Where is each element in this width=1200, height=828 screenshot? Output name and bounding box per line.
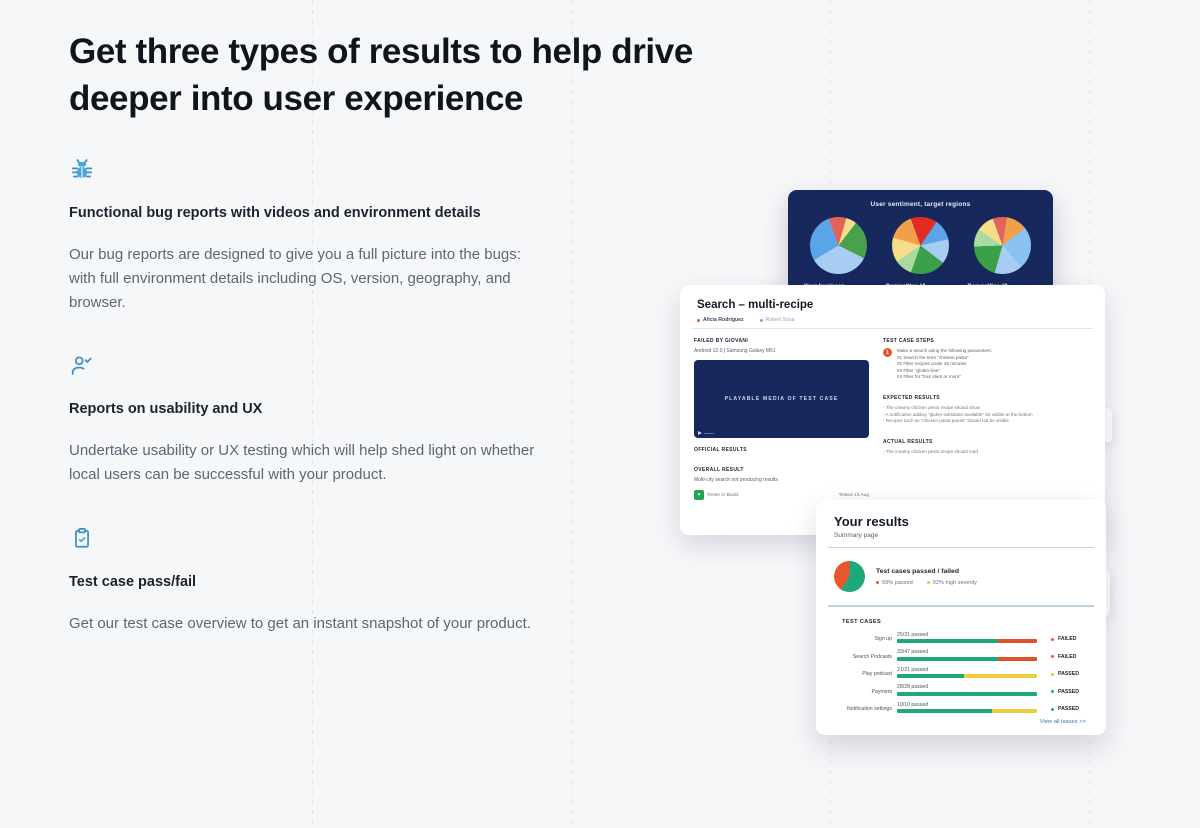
feature-title: Functional bug reports with videos and e… bbox=[69, 205, 729, 221]
media-placeholder-label: PLAYABLE MEDIA OF TEST CASE bbox=[725, 396, 839, 402]
your-results-card: Your results Summary page Test cases pas… bbox=[816, 500, 1106, 735]
progress-pass-segment bbox=[897, 639, 998, 643]
overall-result-heading: OVERALL RESULT bbox=[694, 467, 869, 473]
bug-icon bbox=[69, 157, 95, 183]
status-dot-icon bbox=[1051, 673, 1054, 676]
table-row[interactable]: Search Podcasts 33/47 passed FAILED bbox=[830, 649, 1092, 661]
summary-legend: 59% passed 92% high severity bbox=[876, 580, 977, 586]
legend-item-severity: 92% high severity bbox=[927, 580, 977, 586]
test-case-name: Play podcast bbox=[830, 671, 897, 678]
steps-heading: TEST CASE STEPS bbox=[883, 338, 1083, 344]
tab-label: Alicia Rodriguez bbox=[703, 317, 744, 323]
step-line: Make a search using the following parame… bbox=[897, 348, 992, 355]
progress-bar bbox=[897, 657, 1037, 661]
flag-icon: ✦ bbox=[694, 490, 704, 500]
progress-rest-segment bbox=[998, 639, 1037, 643]
play-controls[interactable] bbox=[698, 431, 714, 435]
summary-heading: Test cases passed / failed bbox=[876, 568, 977, 575]
media-player[interactable]: PLAYABLE MEDIA OF TEST CASE bbox=[694, 360, 869, 438]
step-line: #4 Filter for "four stars or more" bbox=[897, 374, 992, 381]
feature-body: Our bug reports are designed to give you… bbox=[69, 243, 549, 315]
status-dot-icon bbox=[1051, 690, 1054, 693]
divider bbox=[828, 605, 1094, 606]
divider bbox=[828, 547, 1094, 548]
official-results-heading: OFFICIAL RESULTS bbox=[694, 447, 869, 453]
status-dot-icon bbox=[1051, 708, 1054, 711]
test-case-caption: 28/28 passed bbox=[897, 684, 1037, 690]
results-subtitle: Summary page bbox=[834, 532, 1106, 539]
legend-bullet-icon bbox=[876, 581, 879, 584]
tested-date: Tested 13 Aug bbox=[839, 493, 869, 498]
progress-pass-segment bbox=[897, 692, 1037, 696]
status-label: PASSED bbox=[1058, 671, 1079, 677]
tab-tester-alicia[interactable]: Alicia Rodriguez bbox=[697, 317, 744, 323]
step-line: #3 Filter "gluten-free" bbox=[897, 368, 992, 375]
play-icon[interactable] bbox=[698, 431, 702, 435]
legend-label: 59% passed bbox=[882, 580, 913, 586]
table-row[interactable]: Notification settings 10/10 passed PASSE… bbox=[830, 702, 1092, 714]
failed-by-heading: FAILED BY GIOVANI bbox=[694, 338, 869, 344]
test-cases-list: Sign up 25/31 passed FAILED Search Podca… bbox=[816, 632, 1106, 714]
tab-label: Robert Sosa bbox=[766, 317, 795, 323]
test-case-caption: 10/10 passed bbox=[897, 702, 1037, 708]
test-case-title: Search – multi-recipe bbox=[697, 299, 1105, 311]
test-case-caption: 21/21 passed bbox=[897, 667, 1037, 673]
step-lines: Make a search using the following parame… bbox=[897, 348, 992, 381]
test-cases-heading: TEST CASES bbox=[842, 619, 1106, 625]
table-row[interactable]: Play podcast 21/21 passed PASSED bbox=[830, 667, 1092, 679]
feature-bug-reports: Functional bug reports with videos and e… bbox=[69, 157, 729, 315]
expected-line: - The creamy chicken pesto recipe should… bbox=[883, 405, 1083, 412]
pie-chart-your-business bbox=[810, 217, 867, 274]
pass-fail-donut-chart bbox=[834, 561, 865, 592]
progress-bar[interactable] bbox=[704, 433, 714, 434]
legend-label: 92% high severity bbox=[933, 580, 977, 586]
tester-location: Tester in Brazil bbox=[707, 493, 738, 498]
clipboard-check-icon bbox=[69, 526, 95, 552]
table-row[interactable]: Sign up 25/31 passed FAILED bbox=[830, 632, 1092, 644]
status-label: PASSED bbox=[1058, 689, 1079, 695]
test-case-body: FAILED BY GIOVANI Android 12.0 | Samsung… bbox=[680, 329, 1105, 500]
progress-bar bbox=[897, 674, 1037, 678]
feature-title: Test case pass/fail bbox=[69, 574, 729, 590]
sentiment-card-title: User sentiment, target regions bbox=[788, 201, 1053, 208]
progress-pass-segment bbox=[897, 657, 998, 661]
status-dot-icon bbox=[1051, 655, 1054, 658]
product-screenshot-stack: User sentiment, target regions Your busi… bbox=[672, 180, 1192, 780]
progress-pass-segment bbox=[897, 709, 992, 713]
progress-bar bbox=[897, 709, 1037, 713]
test-case-detail-card: Search – multi-recipe Alicia Rodriguez R… bbox=[680, 285, 1105, 535]
status-badge: PASSED bbox=[1037, 689, 1079, 696]
expected-results-heading: EXPECTED RESULTS bbox=[883, 395, 1083, 401]
pie-chart-competitor-1 bbox=[892, 217, 949, 274]
legend-bullet-icon bbox=[927, 581, 930, 584]
feature-title: Reports on usability and UX bbox=[69, 401, 729, 417]
view-all-issues-link[interactable]: View all issues >> bbox=[816, 719, 1086, 725]
test-case-name: Search Podcasts bbox=[830, 654, 897, 661]
status-dot-icon bbox=[760, 319, 763, 322]
progress-bar bbox=[897, 639, 1037, 643]
user-check-icon bbox=[69, 353, 95, 379]
status-label: FAILED bbox=[1058, 636, 1076, 642]
expected-line: - Recipes such as "chicken pasta panas" … bbox=[883, 418, 1083, 425]
progress-rest-segment bbox=[992, 709, 1037, 713]
test-case-name: Sign up bbox=[830, 636, 897, 643]
legend-item-passed: 59% passed bbox=[876, 580, 913, 586]
status-dot-icon bbox=[697, 319, 700, 322]
tester-tabs[interactable]: Alicia Rodriguez Robert Sosa bbox=[697, 317, 1105, 323]
pie-chart-competitor-2 bbox=[974, 217, 1031, 274]
status-dot-icon bbox=[1051, 638, 1054, 641]
expected-line: - A notification adding "gluten substitu… bbox=[883, 412, 1083, 419]
feature-body: Undertake usability or UX testing which … bbox=[69, 439, 549, 487]
test-case-left-column: FAILED BY GIOVANI Android 12.0 | Samsung… bbox=[694, 338, 869, 500]
test-case-caption: 25/31 passed bbox=[897, 632, 1037, 638]
progress-rest-segment bbox=[998, 657, 1037, 661]
progress-pass-segment bbox=[897, 674, 964, 678]
step-line: #1 Search the term "chicken pasta" bbox=[897, 355, 992, 362]
step-number-badge: 1 bbox=[883, 348, 892, 357]
status-label: PASSED bbox=[1058, 706, 1079, 712]
device-info: Android 12.0 | Samsung Galaxy M51 bbox=[694, 348, 869, 354]
step-line: #2 Filter recipes under 45 minutes bbox=[897, 361, 992, 368]
test-case-caption: 33/47 passed bbox=[897, 649, 1037, 655]
table-row[interactable]: Payment 28/28 passed PASSED bbox=[830, 684, 1092, 696]
overall-result-text: Multi-city search not producing results bbox=[694, 477, 869, 483]
test-case-right-column: TEST CASE STEPS 1 Make a search using th… bbox=[883, 338, 1083, 500]
status-badge: FAILED bbox=[1037, 636, 1076, 643]
test-case-steps: 1 Make a search using the following para… bbox=[883, 348, 1083, 381]
tester-footer: ✦ Tester in Brazil Tested 13 Aug bbox=[694, 490, 869, 500]
tab-tester-robert[interactable]: Robert Sosa bbox=[760, 317, 795, 323]
feature-body: Get our test case overview to get an ins… bbox=[69, 612, 549, 636]
page-title: Get three types of results to help drive… bbox=[69, 28, 729, 122]
test-case-name: Notification settings bbox=[830, 706, 897, 713]
status-badge: PASSED bbox=[1037, 671, 1079, 678]
feature-test-case-pass-fail: Test case pass/fail Get our test case ov… bbox=[69, 526, 729, 636]
actual-results-heading: ACTUAL RESULTS bbox=[883, 439, 1083, 445]
results-summary: Test cases passed / failed 59% passed 92… bbox=[834, 561, 1106, 592]
content-column: Get three types of results to help drive… bbox=[69, 28, 729, 636]
progress-bar bbox=[897, 692, 1037, 696]
status-badge: FAILED bbox=[1037, 654, 1076, 661]
actual-line: - The creamy chicken pesto recipe should… bbox=[883, 449, 1083, 456]
status-label: FAILED bbox=[1058, 654, 1076, 660]
status-badge: PASSED bbox=[1037, 706, 1079, 713]
results-title: Your results bbox=[834, 514, 1106, 529]
progress-rest-segment bbox=[964, 674, 1037, 678]
feature-usability-reports: Reports on usability and UX Undertake us… bbox=[69, 353, 729, 487]
test-case-name: Payment bbox=[830, 689, 897, 696]
